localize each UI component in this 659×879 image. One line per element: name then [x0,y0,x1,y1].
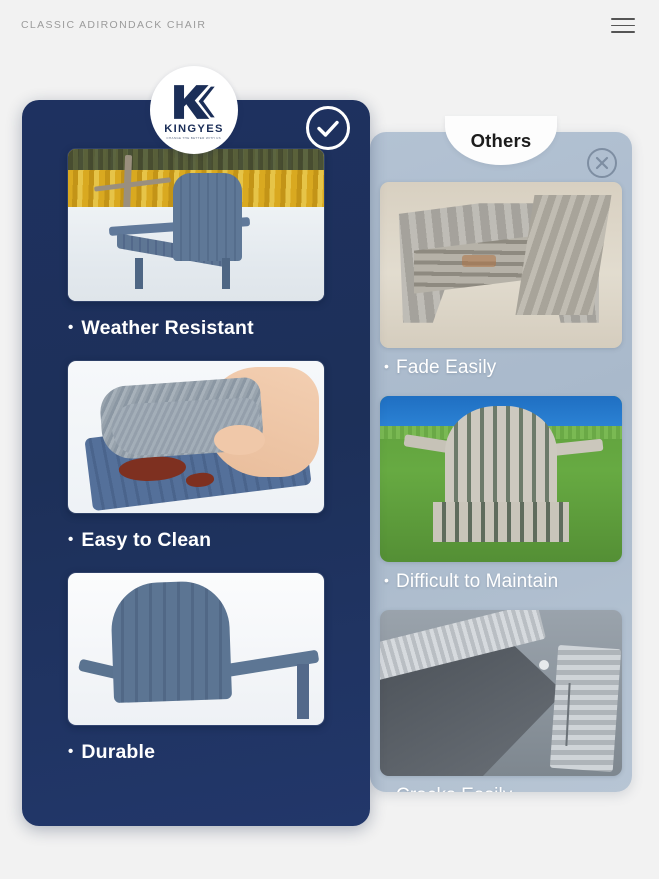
x-circle-icon[interactable] [587,148,617,178]
feature-text: Weather Resistant [81,317,253,339]
page-header: CLASSIC ADIRONDACK CHAIR [0,0,659,54]
feature-text: Easy to Clean [81,529,211,551]
page-title: CLASSIC ADIRONDACK CHAIR [21,19,206,31]
list-item: •Difficult to Maintain [370,396,632,600]
hand-wiping-spill-with-towel-photo [67,360,325,514]
kingyes-k-logo-icon [171,83,217,121]
cracked-wood-joint-closeup-photo [380,610,622,776]
drawback-label: •Cracks Easily [370,776,632,792]
blue-chair-back-closeup-photo [67,572,325,726]
feature-label: •Weather Resistant [22,302,370,356]
bullet-icon: • [384,786,389,792]
list-item: •Fade Easily [370,182,632,386]
hamburger-menu-icon[interactable] [611,18,635,36]
product-comparison-page: CLASSIC ADIRONDACK CHAIR •Fade E [0,0,659,879]
list-item: •Weather Resistant [22,148,370,356]
bullet-icon: • [68,531,73,548]
list-item: •Easy to Clean [22,360,370,568]
weathered-gray-chair-on-grass-photo [380,396,622,562]
list-item: •Cracks Easily [370,610,632,792]
brand-comparison-panel: •Weather Resistant •Easy to Clean [22,100,370,826]
feature-label: •Easy to Clean [22,514,370,568]
others-comparison-panel: •Fade Easily •Difficult to Maintain [370,132,632,792]
brand-feature-list: •Weather Resistant •Easy to Clean [22,148,370,784]
feature-text: Durable [81,741,155,763]
blue-adirondack-chair-in-snow-photo [67,148,325,302]
feature-label: •Durable [22,726,370,780]
bullet-icon: • [384,358,389,374]
check-circle-icon[interactable] [306,106,350,150]
drawback-text: Fade Easily [396,357,496,378]
drawback-text: Difficult to Maintain [396,571,558,592]
drawback-label: •Fade Easily [370,348,632,386]
faded-gray-wooden-chair-on-sand-photo [380,182,622,348]
list-item: •Durable [22,572,370,780]
brand-tagline: CHANGE THE BETTER WITH US [167,136,222,140]
drawback-label: •Difficult to Maintain [370,562,632,600]
bullet-icon: • [68,743,73,760]
drawback-text: Cracks Easily [396,785,512,792]
brand-wordmark: KINGYES [164,123,223,135]
brand-logo-badge: KINGYES CHANGE THE BETTER WITH US [150,66,238,154]
bullet-icon: • [68,319,73,336]
bullet-icon: • [384,572,389,588]
others-drawback-list: •Fade Easily •Difficult to Maintain [370,182,632,792]
